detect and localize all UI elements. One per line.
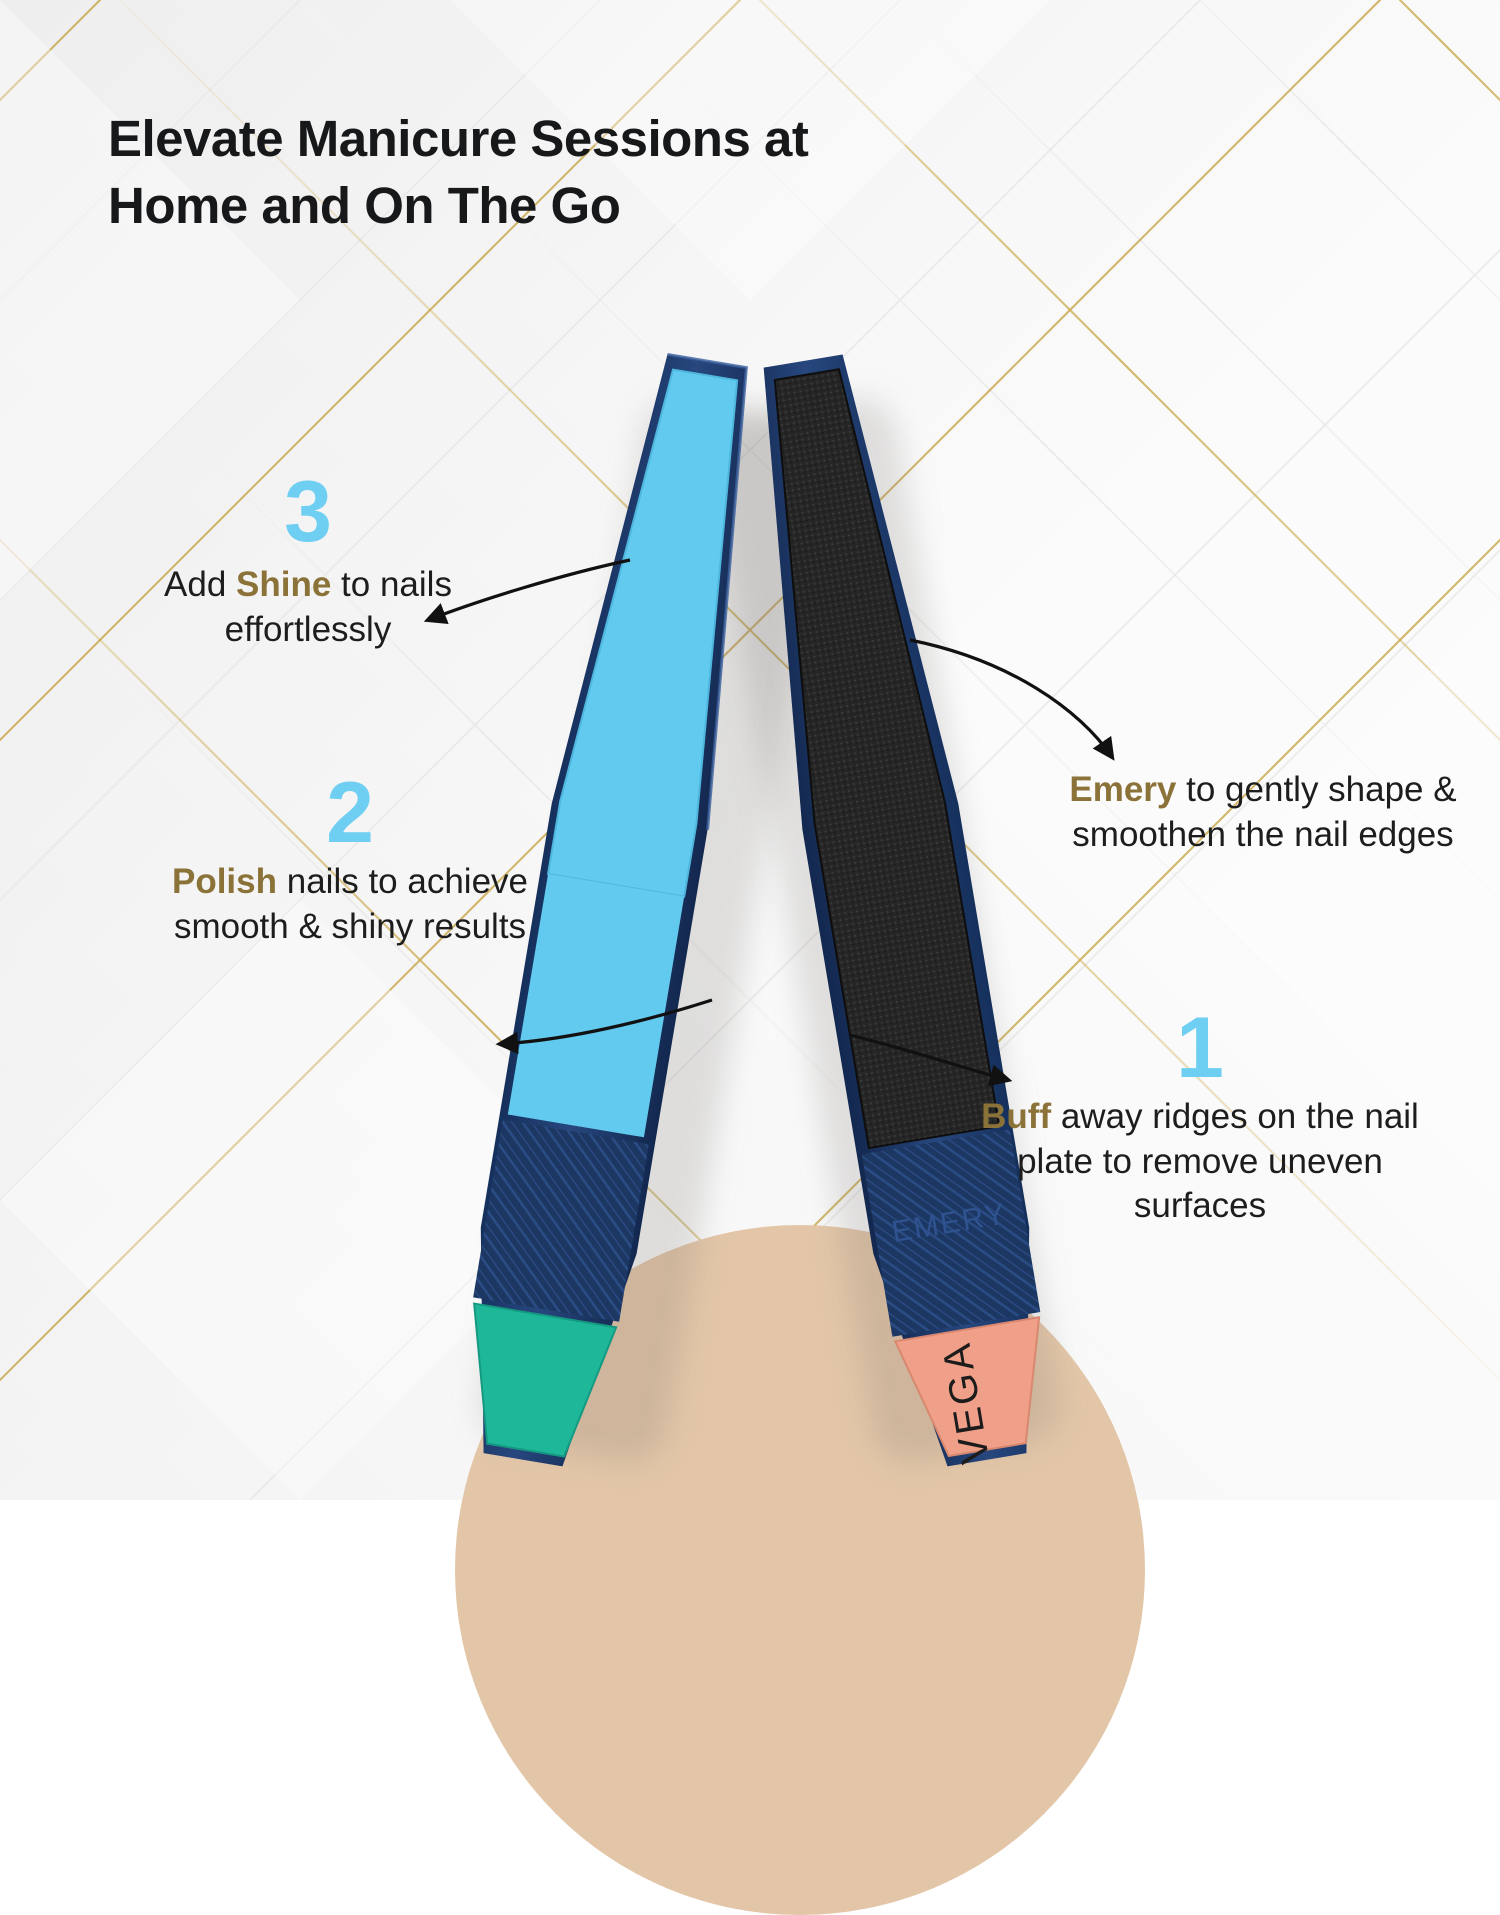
step-2-number: 2 xyxy=(140,775,560,852)
page-title: Elevate Manicure Sessions at Home and On… xyxy=(108,105,1108,240)
step-emery-keyword: Emery xyxy=(1069,770,1176,809)
step-3-number: 3 xyxy=(98,474,518,551)
step-3-prefix: Add xyxy=(164,565,236,604)
step-1-block: 1 Buff away ridges on the nail plate to … xyxy=(980,1010,1420,1229)
step-3-block: 3 Add Shine to nails effortlessly xyxy=(98,474,518,652)
step-2-text: Polish nails to achieve smooth & shiny r… xyxy=(140,860,560,949)
step-1-keyword: Buff xyxy=(981,1097,1051,1136)
page-title-line-2: Home and On The Go xyxy=(108,172,1108,239)
step-2-keyword: Polish xyxy=(172,862,277,901)
step-1-text: Buff away ridges on the nail plate to re… xyxy=(980,1095,1420,1228)
step-1-number: 1 xyxy=(980,1010,1420,1087)
page-title-line-1: Elevate Manicure Sessions at xyxy=(108,105,1108,172)
step-3-keyword: Shine xyxy=(236,565,331,604)
step-2-block: 2 Polish nails to achieve smooth & shiny… xyxy=(140,775,560,949)
step-3-text: Add Shine to nails effortlessly xyxy=(98,563,518,652)
step-1-suffix: away ridges on the nail plate to remove … xyxy=(1017,1097,1419,1225)
step-emery-block: Emery to gently shape & smoothen the nai… xyxy=(1048,768,1478,858)
step-emery-text: Emery to gently shape & smoothen the nai… xyxy=(1048,768,1478,858)
